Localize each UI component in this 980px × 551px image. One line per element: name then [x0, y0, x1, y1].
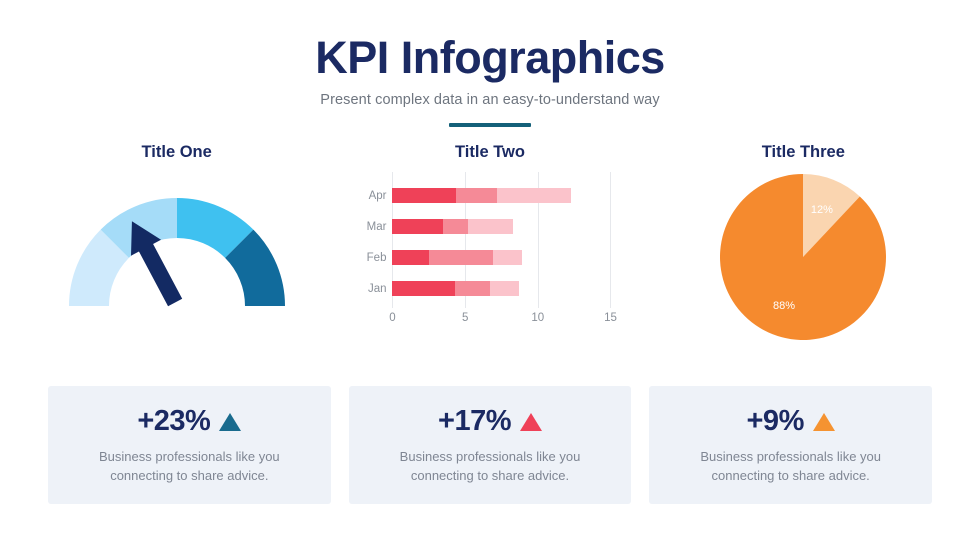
bar-segment — [392, 188, 456, 203]
kpi-card[interactable]: +9% Business professionals like you conn… — [649, 386, 932, 504]
bar-segment — [392, 281, 454, 296]
gauge-chart-body — [62, 172, 292, 322]
bar-axis-tick: 10 — [531, 312, 544, 324]
pie-slice-label: 12% — [811, 204, 833, 216]
bar-category-label: Jan — [368, 283, 387, 295]
title-divider — [449, 123, 531, 127]
bar-segment — [392, 219, 443, 234]
kpi-description: Business professionals like you connecti… — [72, 448, 307, 485]
kpi-value-row: +9% — [747, 405, 835, 438]
bar-segment — [493, 250, 522, 265]
bar-segment — [497, 188, 571, 203]
bar-row: Jan — [392, 281, 518, 296]
bar-segment — [429, 250, 493, 265]
pie-chart: 12%88% — [718, 172, 888, 342]
bar-axis-tick: 0 — [389, 312, 395, 324]
bar-segment — [443, 219, 468, 234]
page-subtitle: Present complex data in an easy-to-under… — [0, 92, 980, 108]
kpi-value: +17% — [438, 405, 511, 438]
bar-chart-title: Title Two — [455, 143, 525, 162]
page-title: KPI Infographics — [0, 34, 980, 81]
bar-segment — [455, 281, 490, 296]
bar-row: Apr — [392, 188, 571, 203]
pie-slice — [720, 174, 886, 340]
bar-chart: AprMarFebJan051015 — [362, 172, 617, 332]
bar-category-label: Feb — [367, 252, 387, 264]
bar-row: Mar — [392, 219, 513, 234]
kpi-card[interactable]: +23% Business professionals like you con… — [48, 386, 331, 504]
trend-up-icon — [813, 413, 835, 431]
bar-chart-panel: Title Two AprMarFebJan051015 — [333, 143, 646, 342]
kpi-description: Business professionals like you connecti… — [373, 448, 608, 485]
charts-row: Title One Title Two AprMarFebJan051015 T… — [0, 143, 980, 342]
bar-segment — [490, 281, 519, 296]
gauge-chart-title: Title One — [142, 143, 212, 162]
pie-chart-panel: Title Three 12%88% — [647, 143, 960, 342]
page-header: KPI Infographics Present complex data in… — [0, 0, 980, 127]
chart-gridline — [610, 172, 611, 308]
bar-axis-tick: 5 — [462, 312, 468, 324]
kpi-card[interactable]: +17% Business professionals like you con… — [349, 386, 632, 504]
bar-row: Feb — [392, 250, 521, 265]
kpi-value: +9% — [747, 405, 804, 438]
trend-up-icon — [520, 413, 542, 431]
bar-axis-tick: 15 — [604, 312, 617, 324]
bar-segment — [456, 188, 497, 203]
bar-category-label: Mar — [367, 221, 387, 233]
pie-chart-body: 12%88% — [718, 172, 888, 342]
kpi-cards-row: +23% Business professionals like you con… — [0, 386, 980, 504]
bar-segment — [392, 250, 428, 265]
pie-slice-label: 88% — [773, 300, 795, 312]
kpi-description: Business professionals like you connecti… — [673, 448, 908, 485]
kpi-value: +23% — [137, 405, 210, 438]
bar-chart-body: AprMarFebJan051015 — [362, 172, 617, 332]
kpi-value-row: +23% — [137, 405, 241, 438]
kpi-value-row: +17% — [438, 405, 542, 438]
bar-category-label: Apr — [369, 190, 387, 202]
trend-up-icon — [219, 413, 241, 431]
bar-segment — [468, 219, 513, 234]
gauge-chart — [62, 172, 292, 322]
pie-chart-title: Title Three — [762, 143, 845, 162]
gauge-chart-panel: Title One — [20, 143, 333, 342]
